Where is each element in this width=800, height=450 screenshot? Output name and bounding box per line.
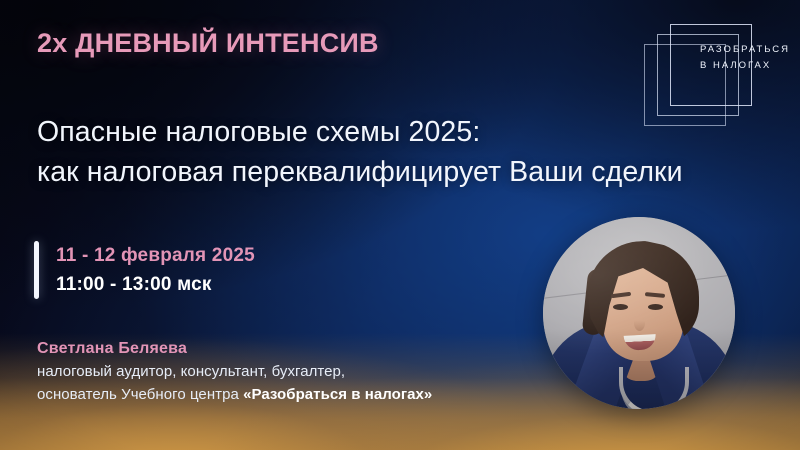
speaker-name: Светлана Беляева (37, 337, 547, 360)
webinar-promo-banner: РАЗОБРАТЬСЯ В НАЛОГАХ 2х ДНЕВНЫЙ ИНТЕНСИ… (0, 0, 800, 450)
eyebrow-headline: 2х ДНЕВНЫЙ ИНТЕНСИВ (37, 28, 379, 59)
schedule-block: 11 - 12 февраля 2025 11:00 - 13:00 мск (34, 241, 255, 299)
logo-text-line2: В НАЛОГАХ (700, 58, 792, 74)
speaker-role-prefix: основатель Учебного центра (37, 386, 243, 403)
schedule-date: 11 - 12 февраля 2025 (56, 241, 255, 270)
logo-text-line1: РАЗОБРАТЬСЯ (700, 44, 790, 55)
schedule-accent-bar (34, 241, 39, 299)
schedule-text: 11 - 12 февраля 2025 11:00 - 13:00 мск (56, 241, 255, 299)
speaker-role-line-1: налоговый аудитор, консультант, бухгалте… (37, 360, 547, 383)
schedule-time: 11:00 - 13:00 мск (56, 270, 255, 299)
speaker-organization: «Разобраться в налогах» (243, 386, 432, 403)
portrait-shading (543, 217, 735, 409)
title-line-2: как налоговая переквалифицирует Ваши сде… (37, 152, 777, 192)
brand-logo: РАЗОБРАТЬСЯ В НАЛОГАХ (644, 12, 792, 104)
speaker-role-line-2: основатель Учебного центра «Разобраться … (37, 383, 547, 406)
speaker-block: Светлана Беляева налоговый аудитор, конс… (37, 337, 547, 406)
page-title: Опасные налоговые схемы 2025: как налого… (37, 112, 777, 192)
logo-text: РАЗОБРАТЬСЯ В НАЛОГАХ (700, 42, 792, 74)
speaker-avatar (543, 217, 735, 409)
title-line-1: Опасные налоговые схемы 2025: (37, 112, 777, 152)
